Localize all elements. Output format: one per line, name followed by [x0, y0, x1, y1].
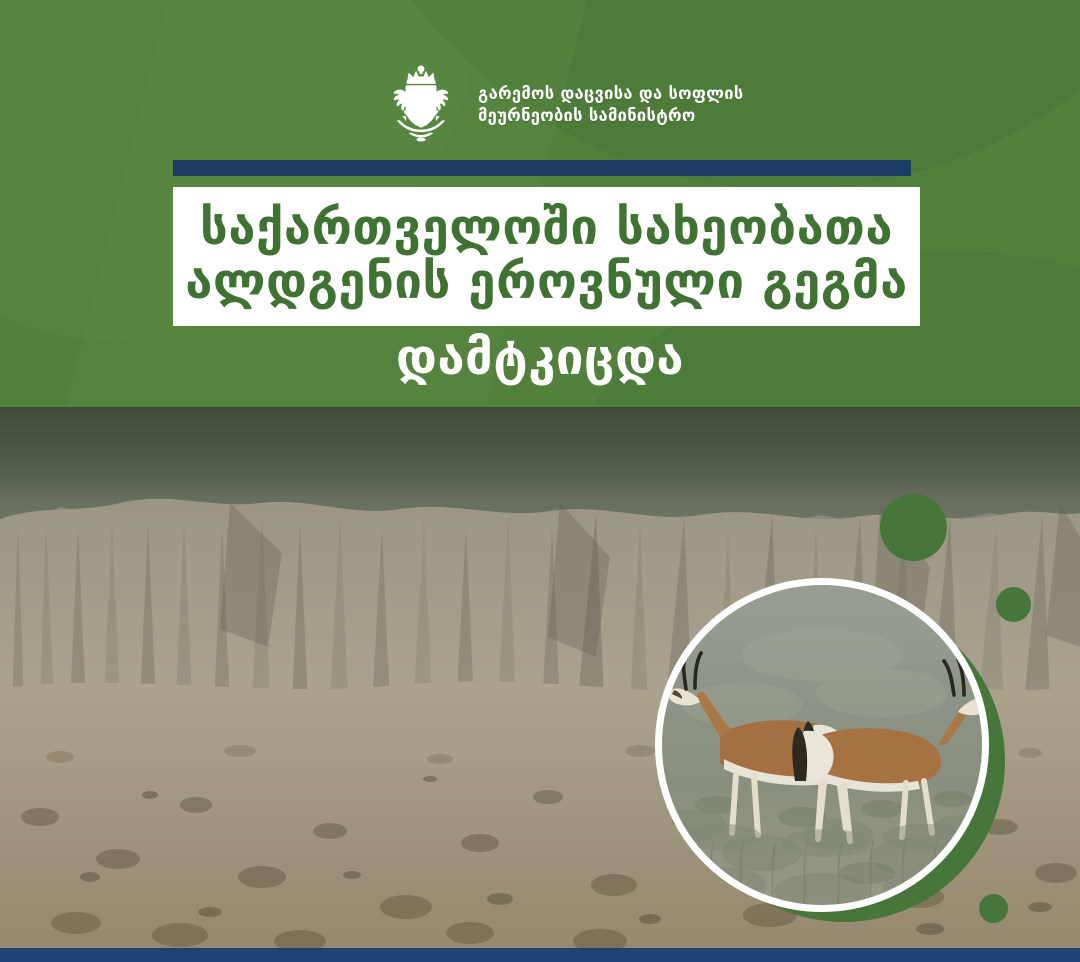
poster-root: გარემოს დაცვისა და სოფლის მეურნეობის სამ…: [0, 0, 1080, 962]
ministry-name: გარემოს დაცვისა და სოფლის მეურნეობის სამ…: [478, 83, 744, 127]
title-line-2: ალდგენის ეროვნული გეგმა: [185, 255, 908, 308]
title-line-1: საქართველოში სახეობათა: [200, 201, 893, 254]
title-plate: საქართველოში სახეობათა ალდგენის ეროვნული…: [173, 187, 920, 326]
navy-accent-bar: [173, 160, 911, 176]
circular-photo-inset: [655, 578, 1010, 933]
inset-white-ring: [655, 578, 989, 912]
navy-footer-bar: [0, 948, 1080, 962]
georgia-coat-of-arms-icon: [378, 62, 464, 148]
title-line-3: დამტკიცდა: [0, 332, 1080, 383]
ministry-logo-lockup: გარემოს დაცვისა და სოფლის მეურნეობის სამ…: [378, 62, 744, 148]
green-circle-large: [880, 494, 947, 561]
